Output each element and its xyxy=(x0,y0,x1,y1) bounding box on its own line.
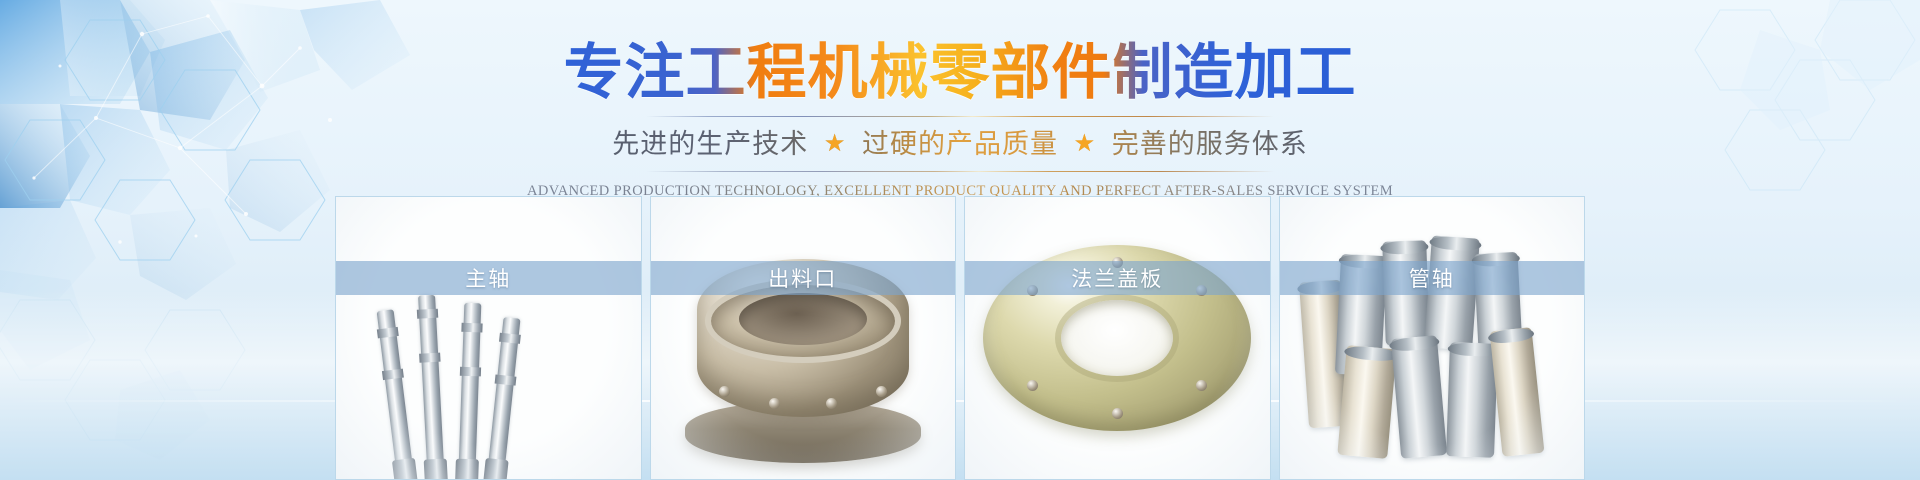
product-photo-flange-cover-plate xyxy=(965,197,1270,479)
page-title: 专注工程机械零部件制造加工 xyxy=(564,40,1357,106)
product-photo-discharge-outlet xyxy=(651,197,956,479)
product-card-flange-cover-plate[interactable]: 法兰盖板 xyxy=(964,196,1271,480)
product-label: 法兰盖板 xyxy=(1071,263,1163,293)
star-icon-1: ★ xyxy=(818,129,853,157)
subtitle-part-3: 完善的服务体系 xyxy=(1112,129,1308,160)
product-label: 主轴 xyxy=(465,263,511,293)
subtitle-part-1: 先进的生产技术 xyxy=(612,129,808,160)
product-photo-spindle-shaft xyxy=(336,197,641,479)
product-label-band: 出料口 xyxy=(651,261,956,295)
subtitle-part-2: 过硬的产品质量 xyxy=(862,129,1058,160)
product-label-band: 主轴 xyxy=(336,261,641,295)
product-label: 出料口 xyxy=(768,263,837,293)
product-card-list: 主轴 出料口 xyxy=(335,196,1585,480)
subtitle-divider xyxy=(646,171,1274,172)
headline-block: 专注工程机械零部件制造加工 先进的生产技术 ★ 过硬的产品质量 ★ 完善的服务体… xyxy=(0,40,1920,200)
star-icon-2: ★ xyxy=(1068,129,1103,157)
product-label-band: 管轴 xyxy=(1280,261,1585,295)
product-card-tube-shaft[interactable]: 管轴 xyxy=(1279,196,1586,480)
subtitle: 先进的生产技术 ★ 过硬的产品质量 ★ 完善的服务体系 xyxy=(612,126,1307,162)
product-label: 管轴 xyxy=(1409,263,1455,293)
promo-banner: 专注工程机械零部件制造加工 先进的生产技术 ★ 过硬的产品质量 ★ 完善的服务体… xyxy=(0,0,1920,480)
product-card-spindle-shaft[interactable]: 主轴 xyxy=(335,196,642,480)
product-label-band: 法兰盖板 xyxy=(965,261,1270,295)
title-divider xyxy=(646,116,1274,117)
product-photo-tube-shaft xyxy=(1280,197,1585,479)
product-card-discharge-outlet[interactable]: 出料口 xyxy=(650,196,957,480)
